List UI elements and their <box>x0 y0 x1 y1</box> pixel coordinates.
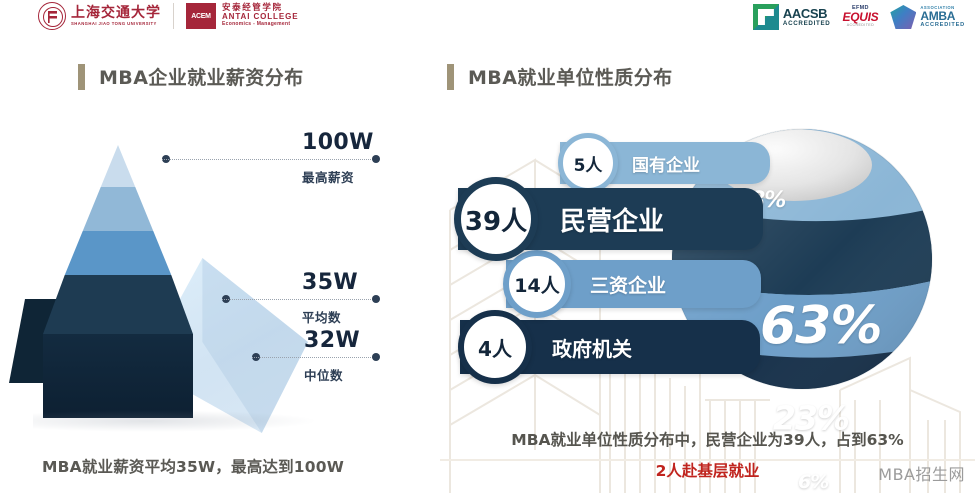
aacsb-label: AACSB <box>783 7 831 20</box>
aacsb-logo: AACSB ACCREDITED <box>753 4 831 30</box>
slide-root: 上海交通大学 SHANGHAI JIAO TONG UNIVERSITY 安泰经… <box>0 0 975 493</box>
antai-logo: 安泰经管学院 ANTAI COLLEGE Economics - Managem… <box>186 3 298 29</box>
antai-name-sub: Economics - Management <box>222 22 298 28</box>
sjtu-name-cn: 上海交通大学 <box>71 6 161 20</box>
right-section-title: MBA就业单位性质分布 <box>447 63 673 90</box>
aacsb-mark-icon <box>753 4 779 30</box>
equis-sublabel: ACCREDITED <box>842 24 878 28</box>
percent-label-private: 63% <box>760 296 881 356</box>
sjtu-name-en: SHANGHAI JIAO TONG UNIVERSITY <box>71 22 161 26</box>
right-caption-line1: MBA就业单位性质分布中，民营企业为39人，占到63% <box>440 428 975 450</box>
amba-label: AMBA <box>920 10 965 23</box>
callout-max-connector <box>162 155 380 164</box>
watermark: MBA招生网 <box>878 461 965 485</box>
callout-average-value: 35W <box>302 270 380 295</box>
callout-median-label: 中位数 <box>304 365 380 384</box>
connector-dash-icon <box>252 357 373 358</box>
connector-dot-right-icon <box>372 353 380 361</box>
sjtu-seal-icon <box>38 2 66 30</box>
callout-max-label: 最高薪资 <box>302 167 380 186</box>
pyramid-band-5 <box>43 334 193 418</box>
legend-item-joint[interactable]: 三资企业 14人 <box>506 260 761 308</box>
legend-label-joint: 三资企业 <box>590 271 666 298</box>
connector-dash-icon <box>222 299 373 300</box>
amba-logo: ASSOCIATION AMBA ACCREDITED <box>890 5 965 29</box>
legend-label-private: 民营企业 <box>560 201 664 238</box>
pyramid-ground-shadow <box>33 410 318 432</box>
callout-average-salary: 35W 平均数 <box>222 270 380 326</box>
left-section-title: MBA企业就业薪资分布 <box>78 63 304 90</box>
sjtu-logo: 上海交通大学 SHANGHAI JIAO TONG UNIVERSITY <box>38 2 161 30</box>
salary-pyramid-chart: 100W 最高薪资 35W 平均数 32W 中位数 <box>0 100 440 493</box>
callout-average-label: 平均数 <box>302 307 380 326</box>
callout-average-connector <box>222 295 380 304</box>
left-title-label: MBA企业就业薪资分布 <box>99 63 304 90</box>
callout-median-salary: 32W 中位数 <box>252 328 380 384</box>
legend-label-gov: 政府机关 <box>552 333 632 362</box>
callout-median-value: 32W <box>304 328 380 353</box>
connector-dot-right-icon <box>372 295 380 303</box>
pyramid-band-3 <box>43 231 193 275</box>
connector-dot-right-icon <box>372 155 380 163</box>
legend-count-gov: 4人 <box>458 310 532 384</box>
pyramid-band-4 <box>43 275 193 334</box>
header-logos-right: AACSB ACCREDITED EFMD EQUIS ACCREDITED A… <box>753 4 965 30</box>
left-caption: MBA就业薪资平均35W，最高达到100W <box>42 455 344 477</box>
logo-divider <box>173 3 174 29</box>
callout-max-salary: 100W 最高薪资 <box>162 130 380 186</box>
equis-label: EQUIS <box>842 11 878 23</box>
right-title-label: MBA就业单位性质分布 <box>468 63 673 90</box>
legend-label-soe: 国有企业 <box>632 151 700 176</box>
callout-max-value: 100W <box>302 130 380 155</box>
legend-count-joint: 14人 <box>503 250 571 318</box>
title-accent-bar <box>78 64 85 90</box>
aacsb-sublabel: ACCREDITED <box>783 21 831 27</box>
callout-median-connector <box>252 353 380 362</box>
connector-dash-icon <box>162 159 373 160</box>
acem-mark-icon <box>186 3 216 29</box>
header-logos-left: 上海交通大学 SHANGHAI JIAO TONG UNIVERSITY 安泰经… <box>38 2 298 30</box>
pyramid-band-2 <box>43 187 193 231</box>
legend-item-gov[interactable]: 政府机关 4人 <box>460 320 760 374</box>
amba-sublabel: ACCREDITED <box>920 23 965 29</box>
legend-item-soe[interactable]: 国有企业 5人 <box>560 142 770 184</box>
amba-mark-icon <box>890 5 916 29</box>
legend-count-private: 39人 <box>454 177 538 261</box>
legend-count-soe: 5人 <box>558 133 618 193</box>
equis-logo: EFMD EQUIS ACCREDITED <box>842 6 878 28</box>
legend-item-private[interactable]: 民营企业 39人 <box>458 188 763 250</box>
employer-type-chart: 8% 63% 23% 6% 国有企业 5人 民营企业 39人 三资企业 14人 … <box>440 100 975 493</box>
title-accent-bar <box>447 64 454 90</box>
